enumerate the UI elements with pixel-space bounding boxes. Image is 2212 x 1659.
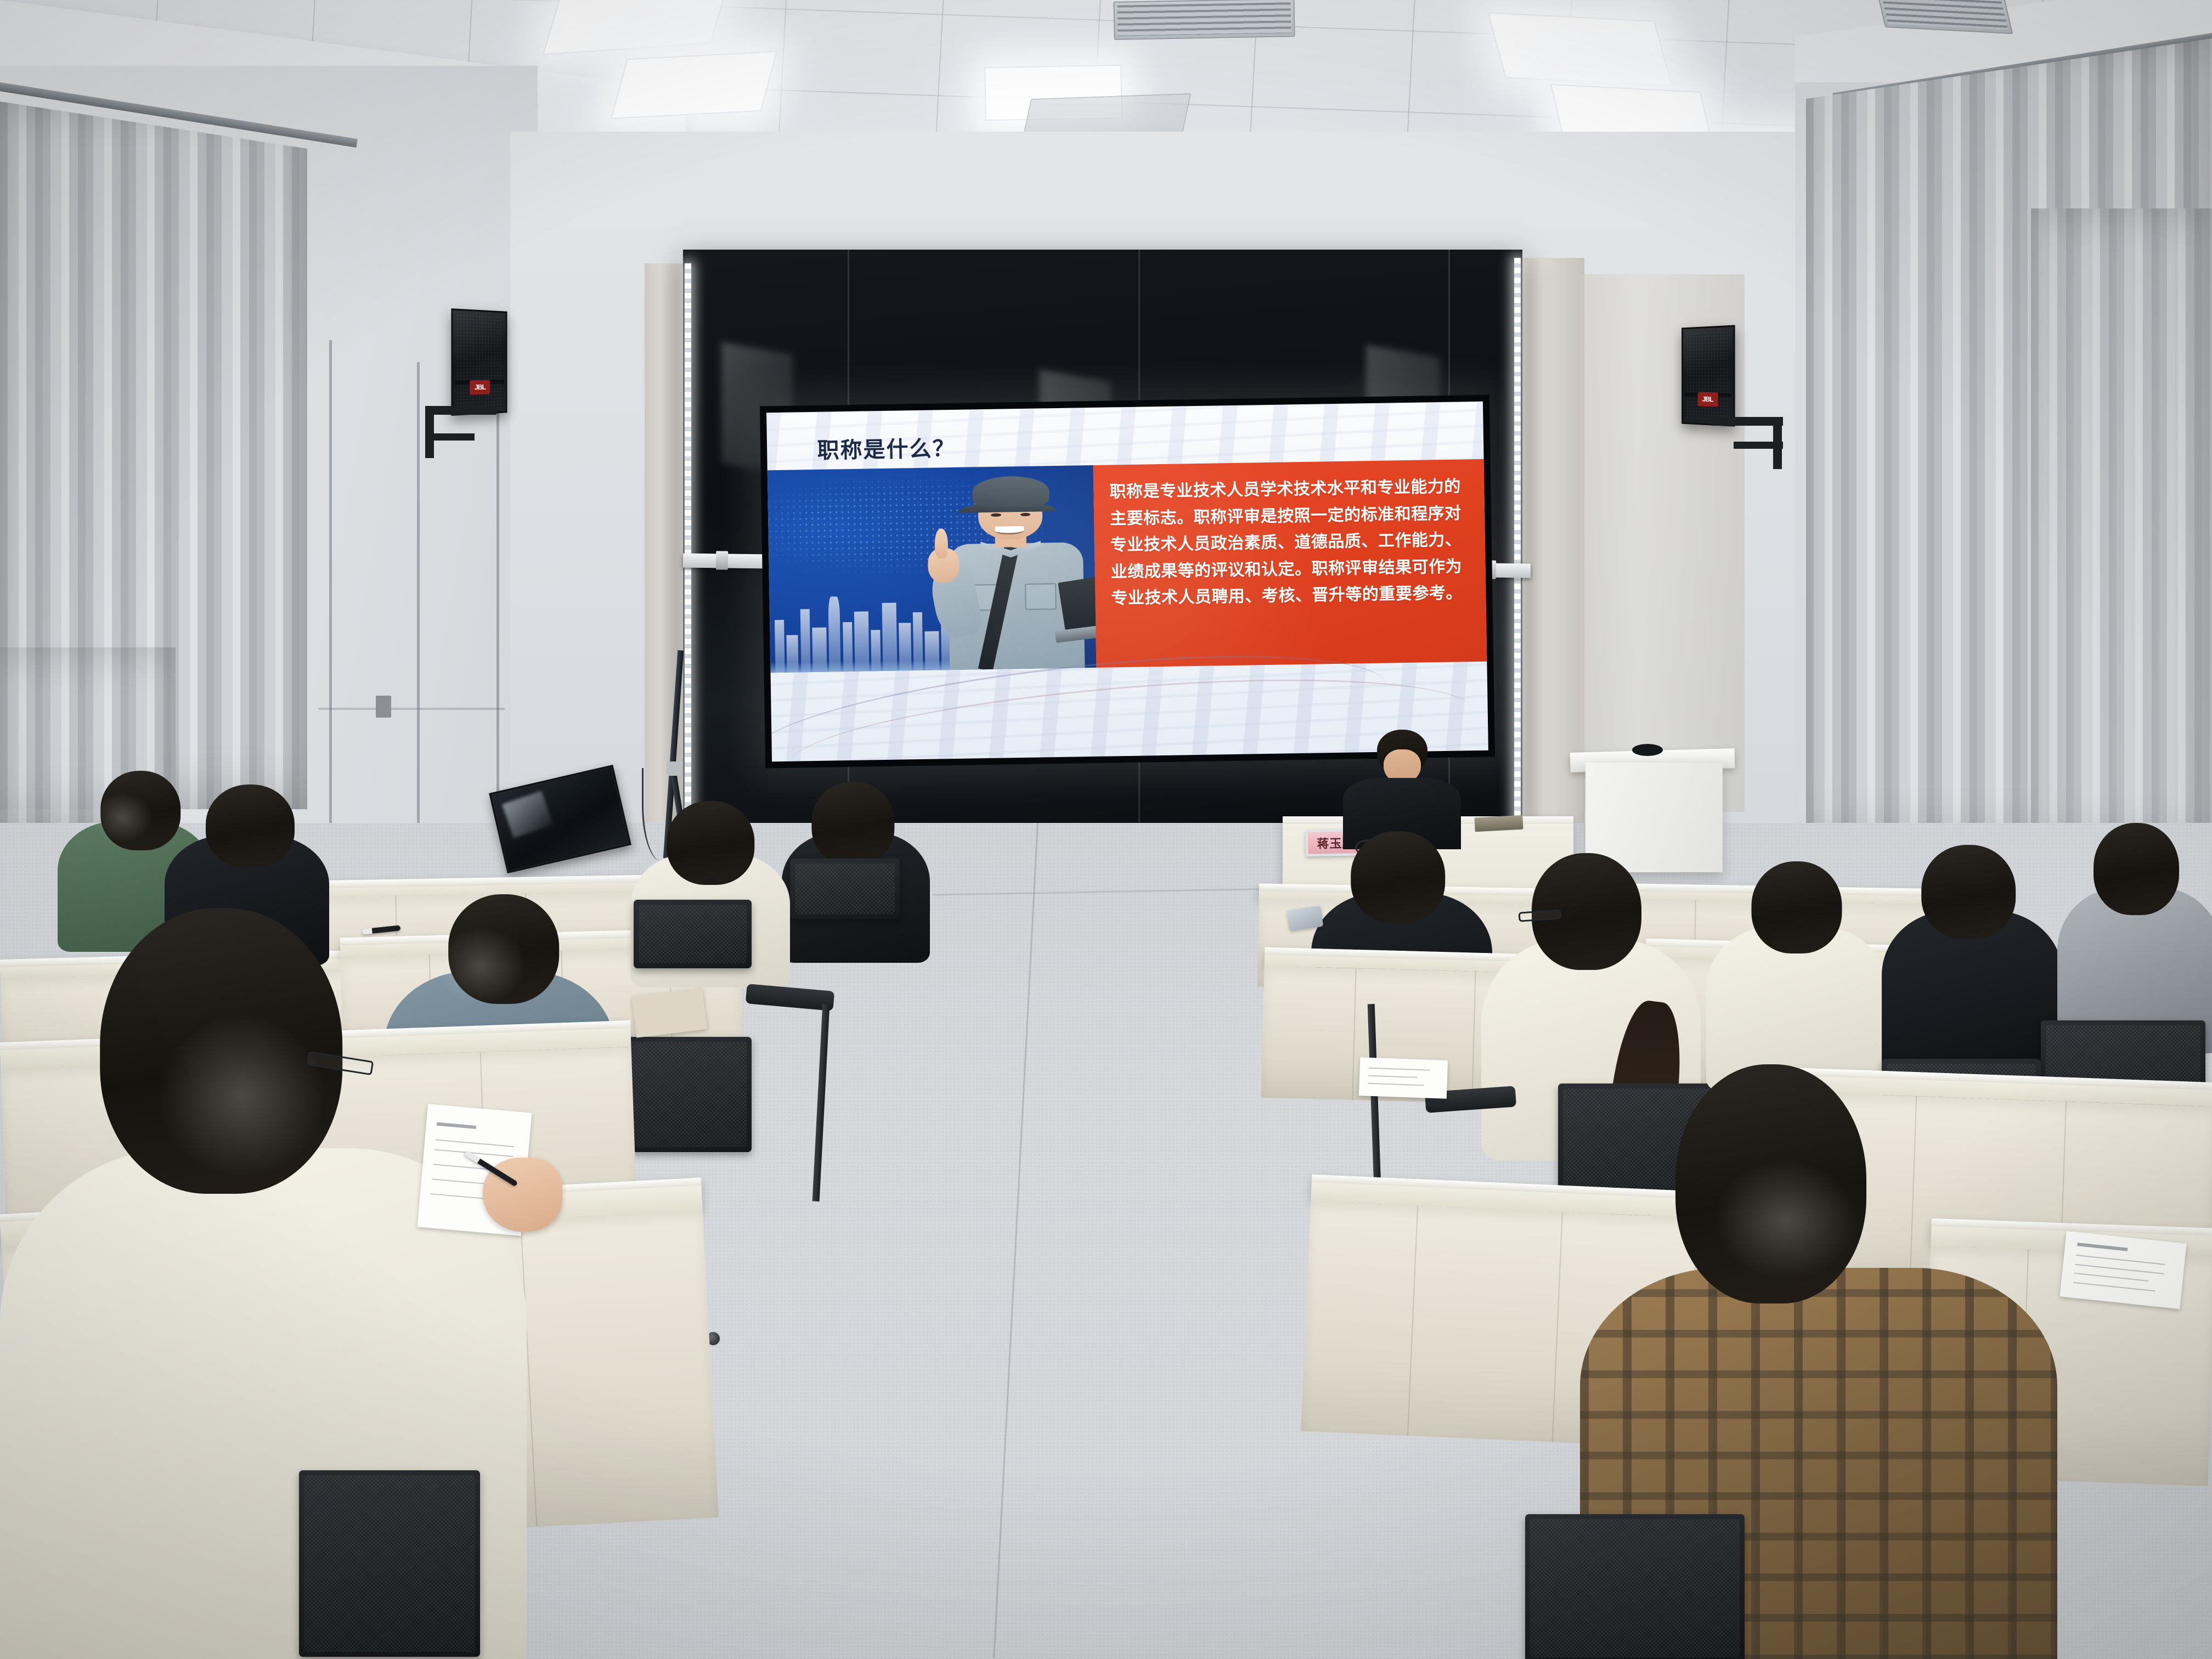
- curtain-right-panel: [2031, 208, 2212, 856]
- wall-panel-seam: [496, 384, 499, 845]
- lectern-microphone: [1632, 744, 1663, 756]
- hair-highlight: [1714, 1160, 1857, 1279]
- speaker-grill: [456, 314, 503, 410]
- chair-mesh: [639, 905, 747, 963]
- vent-slats: [1118, 2, 1291, 36]
- handout-line: [2073, 1282, 2155, 1292]
- desk-notebook: [631, 988, 707, 1037]
- attendee-head: [811, 782, 894, 865]
- slide-person-thumb: [935, 528, 948, 559]
- handout-line: [1368, 1075, 1418, 1078]
- vent-slats: [1881, 0, 2008, 30]
- chair: [634, 900, 752, 968]
- handout-line: [2075, 1263, 2164, 1274]
- chair: [790, 859, 900, 919]
- slide-person-pocket: [1025, 583, 1056, 610]
- desk-handout: [2059, 1231, 2186, 1309]
- attendee-head: [1351, 831, 1446, 923]
- wall-panel-seam: [329, 340, 332, 834]
- presenter-notebook: [1474, 815, 1523, 832]
- form-title-line: [437, 1122, 476, 1128]
- desk-handout: [1359, 1057, 1448, 1099]
- wall-pilaster-left: [645, 263, 689, 834]
- hair-highlight: [158, 1013, 326, 1178]
- slide-image-pane: [768, 465, 1097, 673]
- slide-text-pane: 职称是专业技术人员学术技术水平和专业能力的 主要标志。职称评审是按照一定的标准和…: [1093, 459, 1487, 668]
- speaker-mount-bracket-left: [425, 433, 475, 441]
- handout-line: [1368, 1083, 1424, 1086]
- attendee-head: [206, 785, 295, 868]
- handout-line: [2074, 1273, 2149, 1282]
- wall-speaker-right: JBL: [1681, 325, 1735, 426]
- speaker-mount-bracket-right: [1712, 417, 1783, 426]
- monitor-reflection: [502, 791, 553, 839]
- classroom-scene: 职称是什么？: [0, 0, 2212, 1659]
- attendee-grey-top-far-right: [2057, 823, 2212, 1053]
- speaker-mount-bracket-left: [425, 406, 496, 415]
- chair-backrest: [1525, 1514, 1745, 1659]
- attendee-head: [2093, 823, 2179, 915]
- slide-body-line: 专业技术人员聘用、考核、晋升等的重要参考。: [1111, 580, 1470, 613]
- handout-line: [1369, 1068, 1430, 1071]
- attendee-head: [667, 801, 754, 885]
- wall-data-plate: [376, 696, 391, 718]
- chair-foreground: [299, 1470, 480, 1657]
- attendee-head: [1922, 845, 2016, 939]
- led-light-strip-left: [685, 263, 691, 828]
- attendee-head: [1752, 861, 1842, 953]
- hair-highlight: [92, 793, 153, 843]
- handout-title-line: [2077, 1243, 2128, 1251]
- attendee-white-tee-far-right: [1706, 861, 1887, 1092]
- slide-person-illustration: [917, 465, 1097, 670]
- wall-panel-seam: [417, 362, 420, 845]
- chair-backrest: [299, 1470, 480, 1657]
- form-line: [435, 1139, 514, 1148]
- chair-mesh: [304, 1475, 475, 1652]
- attendee-black-tee-far-right: [1882, 845, 2063, 1081]
- chair-backrest: [634, 900, 752, 968]
- jbl-logo-icon: JBL: [1697, 392, 1718, 407]
- slide-person-cap: [972, 476, 1049, 508]
- chair-backrest: [790, 859, 900, 919]
- ceiling-panel-light: [611, 51, 777, 119]
- speaker-mount-bracket-right: [1734, 442, 1783, 449]
- speaker-mount-bracket-left: [425, 406, 434, 458]
- ceiling-panel-light: [1487, 12, 1672, 87]
- handout-line: [2076, 1255, 2165, 1265]
- chair-mesh: [795, 864, 895, 914]
- led-light-strip-right: [1514, 258, 1521, 831]
- jbl-logo-icon: JBL: [470, 380, 490, 395]
- chair-mesh: [1530, 1519, 1740, 1657]
- chair-foreground-right: [1525, 1514, 1745, 1659]
- projection-screen: 职称是什么？: [766, 402, 1488, 761]
- wall-speaker-left: JBL: [451, 308, 507, 416]
- projection-screen-frame: 职称是什么？: [760, 395, 1495, 769]
- slide-person-eye: [1020, 513, 1030, 516]
- track-clip: [716, 551, 728, 569]
- wall-panel-seam: [318, 708, 505, 710]
- ceiling-air-vent: [1113, 0, 1295, 40]
- speaker-grill: [1686, 330, 1730, 421]
- slide-person-eye: [991, 513, 1001, 516]
- slide-title: 职称是什么？: [817, 431, 956, 465]
